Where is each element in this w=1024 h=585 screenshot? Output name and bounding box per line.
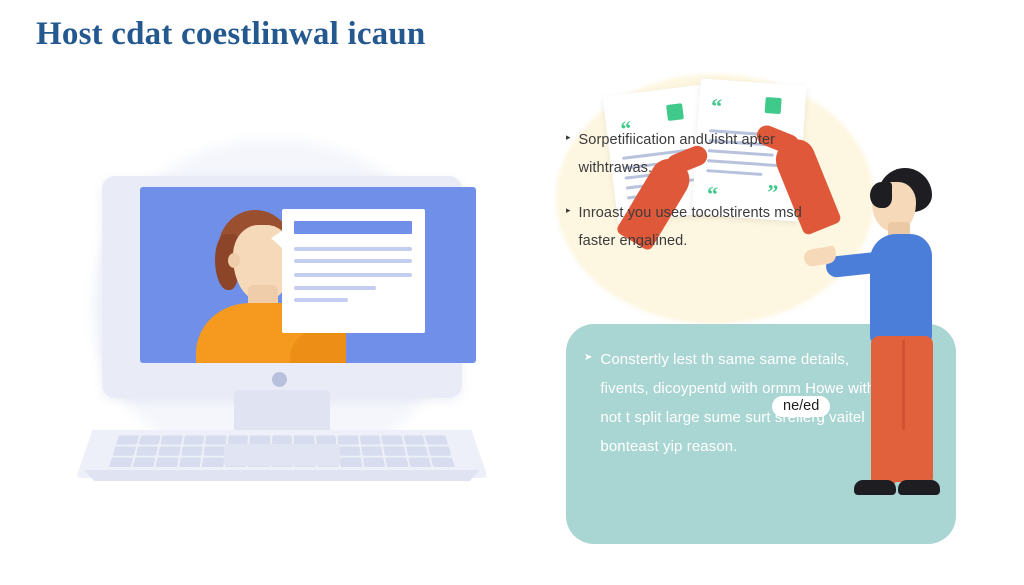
laptop-stand-neck [234, 390, 330, 436]
speech-card-header-bar [294, 221, 412, 234]
laptop-camera-dot [272, 372, 287, 387]
standing-person-hair-front [870, 182, 892, 208]
bullet-marker-icon: ▸ [566, 133, 571, 142]
speech-card-text-line [294, 259, 412, 263]
speech-bubble-card [282, 209, 425, 333]
bullet-item: ▸ Sorpetifiication andUisht apter withtr… [566, 126, 836, 183]
laptop-lid [102, 176, 462, 398]
quote-open-icon: “ [710, 95, 723, 118]
laptop-base-lip [78, 470, 486, 481]
page-title: Host cdat coestlinwal icaun [36, 16, 425, 53]
standing-person-shoe [854, 480, 896, 495]
standing-person-sweater [870, 234, 932, 346]
bullet-item: ▸ Inroast you usee tocolstirents msd fas… [566, 199, 836, 256]
bullet-marker-icon: ▸ [566, 206, 571, 215]
speech-card-text-line [294, 247, 412, 251]
speech-card-text-line [294, 286, 376, 290]
speech-card-text-line [294, 273, 412, 277]
laptop-screen [140, 187, 476, 363]
bullet-item-text: Inroast you usee tocolstirents msd faste… [579, 199, 836, 256]
teal-panel-bullet: ➤ Constertly lest th same same details, … [584, 346, 884, 462]
standing-person-shoe [898, 480, 940, 495]
standing-person-illustration [840, 168, 970, 513]
green-square-icon [765, 97, 782, 114]
slide-canvas: Host cdat coestlinwal icaun [0, 0, 1024, 585]
bullet-list: ▸ Sorpetifiication andUisht apter withtr… [566, 126, 836, 271]
laptop-trackpad [224, 444, 340, 466]
standing-person-pants-seam [902, 340, 905, 430]
green-square-icon [666, 103, 684, 121]
status-badge: ne/ed [772, 396, 830, 417]
video-person-ear [228, 253, 240, 268]
bullet-marker-icon: ➤ [584, 353, 592, 363]
speech-card-text-line [294, 298, 348, 302]
bullet-item-text: Sorpetifiication andUisht apter withtraw… [579, 126, 836, 183]
